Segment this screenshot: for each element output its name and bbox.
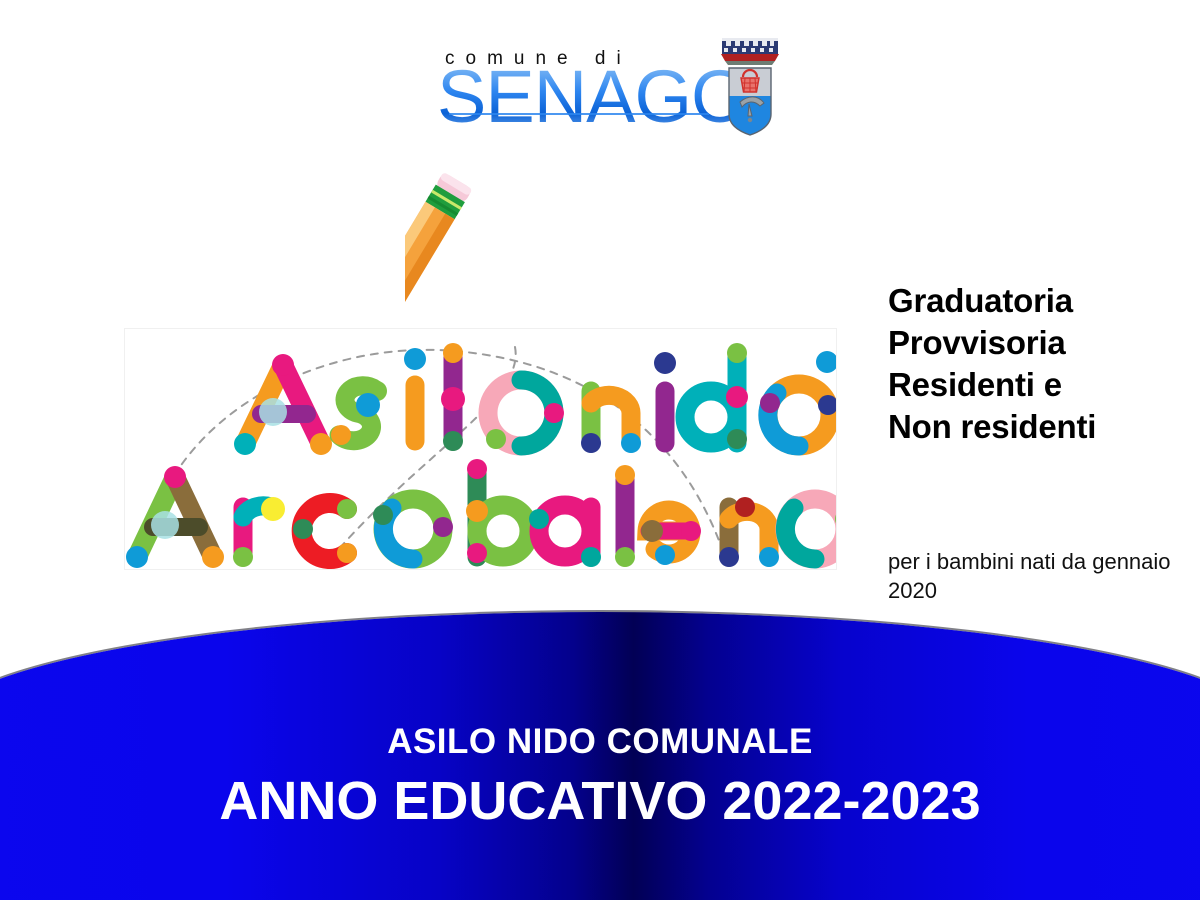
- headline-block: Graduatoria Provvisoria Residenti e Non …: [888, 280, 1188, 448]
- banner-title: ANNO EDUCATIVO 2022-2023: [0, 771, 1200, 831]
- comune-di-senago-logo: comune di SENAGO: [437, 30, 787, 140]
- banner-subtitle: ASILO NIDO COMUNALE: [0, 722, 1200, 762]
- asilo-nido-arcobaleno-logo: .st { stroke-linecap: round; fill: none;…: [124, 328, 837, 570]
- coat-of-arms-icon: [719, 32, 781, 136]
- senago-wordmark-strike: [449, 113, 709, 115]
- headline-line-4: Non residenti: [888, 406, 1188, 448]
- bottom-banner: ASILO NIDO COMUNALE ANNO EDUCATIVO 2022-…: [0, 612, 1200, 900]
- subtext-eligibility: per i bambini nati da gennaio 2020: [888, 547, 1180, 605]
- senago-wordmark: SENAGO: [437, 60, 748, 134]
- headline-line-1: Graduatoria: [888, 280, 1188, 322]
- headline-line-2: Provvisoria: [888, 322, 1188, 364]
- asilo-nido-arcobaleno-artwork: .st { stroke-linecap: round; fill: none;…: [125, 329, 836, 569]
- banner-text-wrap: ASILO NIDO COMUNALE ANNO EDUCATIVO 2022-…: [0, 612, 1200, 831]
- poster-canvas: comune di SENAGO: [0, 0, 1200, 900]
- headline-line-3: Residenti e: [888, 364, 1188, 406]
